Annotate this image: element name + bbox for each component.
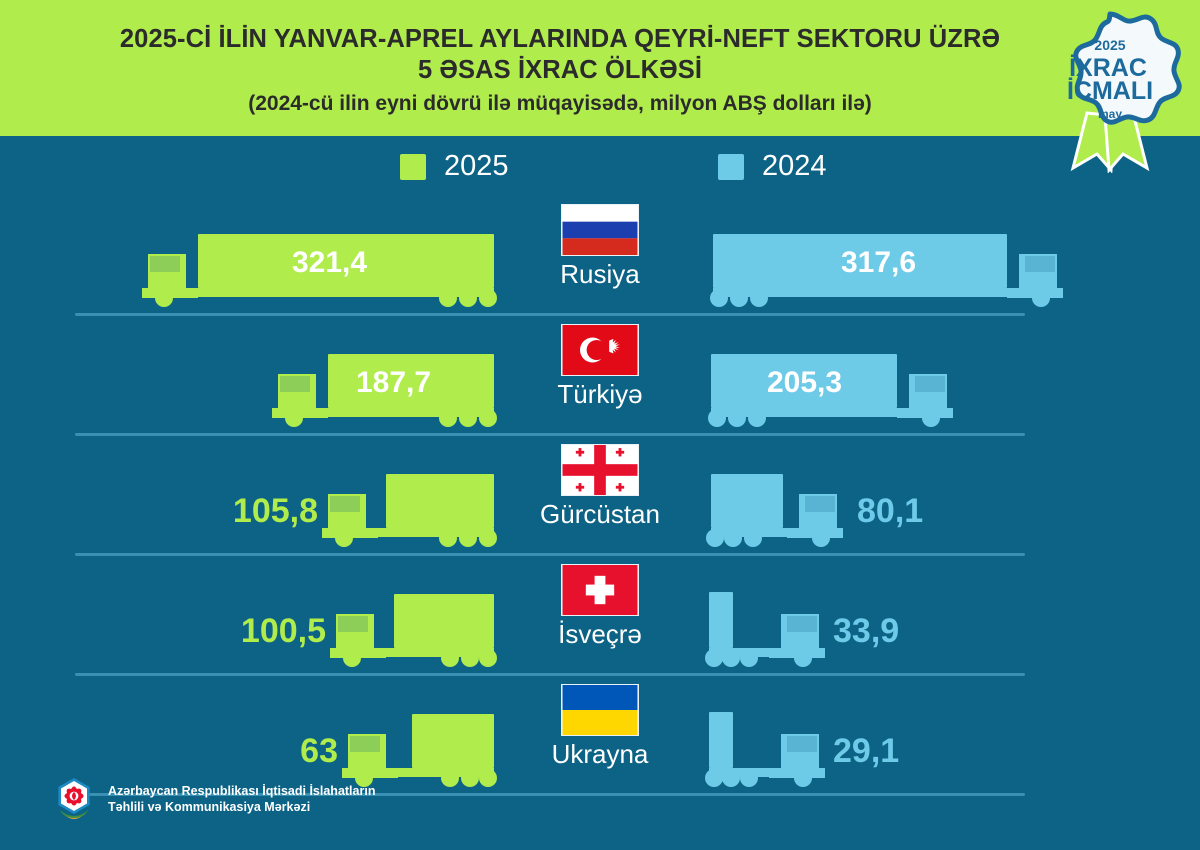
export-review-badge: 2025 İXRAC İCMALI may <box>1035 8 1185 173</box>
flag-turkey-icon <box>561 324 639 376</box>
page-subtitle: (2024-cü ilin eyni dövrü ilə müqayisədə,… <box>60 89 1060 119</box>
legend-item-2024: 2024 <box>718 152 827 181</box>
chart-row-turkiye: 187,7 205,3 <box>0 316 1200 436</box>
legend-swatch-2024 <box>718 154 744 180</box>
flag-georgia-icon <box>561 444 639 496</box>
chart-row-rusiya: 321,4 317,6 <box>0 196 1200 316</box>
country-name-rusiya: Rusiya <box>0 259 1200 289</box>
badge-year: 2025 <box>1094 37 1125 53</box>
flag-switzerland-icon <box>561 564 639 616</box>
flag-ukraine-icon <box>561 684 639 736</box>
badge-month: may <box>1098 107 1122 121</box>
page-title-line-1: 2025-Cİ İLİN YANVAR-APREL AYLARINDA QEYR… <box>60 24 1060 55</box>
country-name-gurcustan: Gürcüstan <box>0 499 1200 529</box>
legend-item-2025: 2025 <box>400 152 509 181</box>
footer-text-block: Azərbaycan Respublikası İqtisadi İslahat… <box>108 783 375 815</box>
chart-row-isvecre: 100,5 33,9 <box>0 556 1200 676</box>
footer-line-2: Təhlili və Kommunikasiya Mərkəzi <box>108 799 375 815</box>
chart-row-gurcustan: 105,8 80,1 <box>0 436 1200 556</box>
infographic-page: 2025-Cİ İLİN YANVAR-APREL AYLARINDA QEYR… <box>0 0 1200 850</box>
country-block-gurcustan: Gürcüstan <box>0 444 1200 529</box>
page-title-line-2: 5 ƏSAS İXRAC ÖLKƏSİ <box>60 55 1060 86</box>
footer: Azərbaycan Respublikası İqtisadi İslahat… <box>52 776 375 822</box>
country-block-turkiye: Türkiyə <box>0 324 1200 409</box>
flag-russia-icon <box>561 204 639 256</box>
country-block-ukrayna: Ukrayna <box>0 684 1200 769</box>
badge-line-2: İCMALI <box>1067 77 1153 105</box>
footer-line-1: Azərbaycan Respublikası İqtisadi İslahat… <box>108 783 375 799</box>
legend-swatch-2025 <box>400 154 426 180</box>
chart-legend: 2025 2024 <box>0 150 1200 190</box>
country-name-turkiye: Türkiyə <box>0 379 1200 409</box>
azerbaijan-emblem-icon <box>52 776 96 822</box>
country-block-rusiya: Rusiya <box>0 204 1200 289</box>
country-name-isvecre: İsveçrə <box>0 619 1200 649</box>
country-name-ukrayna: Ukrayna <box>0 739 1200 769</box>
country-block-isvecre: İsveçrə <box>0 564 1200 649</box>
header-text-block: 2025-Cİ İLİN YANVAR-APREL AYLARINDA QEYR… <box>60 24 1060 119</box>
legend-label-2024: 2024 <box>762 152 827 181</box>
legend-label-2025: 2025 <box>444 152 509 181</box>
header-banner: 2025-Cİ İLİN YANVAR-APREL AYLARINDA QEYR… <box>0 0 1200 136</box>
